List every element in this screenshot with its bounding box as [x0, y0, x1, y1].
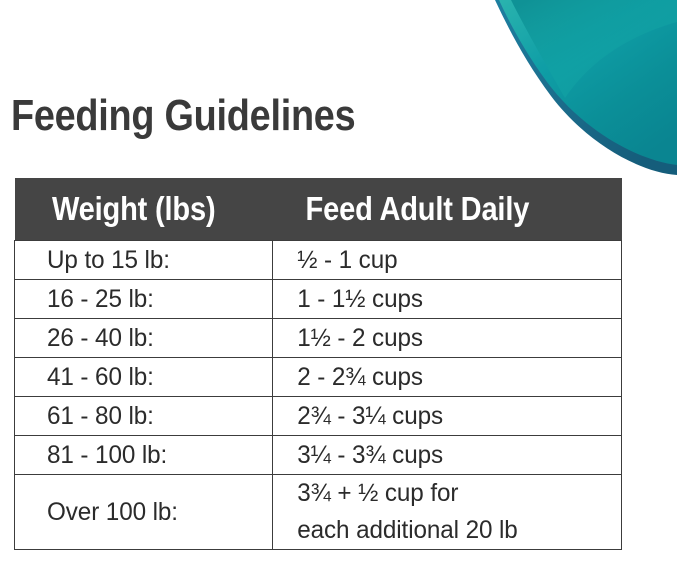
cell-feed: 1 - 1½ cups	[273, 280, 622, 319]
cell-weight: 26 - 40 lb:	[15, 319, 273, 358]
cell-feed: 1½ - 2 cups	[273, 319, 622, 358]
cell-weight-text: 81 - 100 lb:	[15, 440, 264, 470]
cell-feed-text: 2 - 2¾ cups	[273, 362, 611, 392]
cell-feed: ½ - 1 cup	[273, 241, 622, 280]
teal-swoosh-body	[499, 0, 677, 165]
cell-weight-text: Over 100 lb:	[15, 497, 264, 527]
teal-swoosh-overlay	[511, 0, 677, 98]
cell-weight: 16 - 25 lb:	[15, 280, 273, 319]
column-header-weight-label: Weight (lbs)	[15, 192, 242, 226]
feeding-guidelines-table: Weight (lbs) Feed Adult Daily Up to 15 l…	[14, 178, 622, 550]
teal-swoosh-decoration	[477, 0, 677, 175]
table-row: 26 - 40 lb: 1½ - 2 cups	[15, 319, 622, 358]
cell-feed: 3¼ - 3¾ cups	[273, 436, 622, 475]
page-title: Feeding Guidelines	[11, 90, 355, 142]
teal-swoosh-edge	[495, 0, 677, 175]
table-row: 81 - 100 lb: 3¼ - 3¾ cups	[15, 436, 622, 475]
cell-weight: Over 100 lb:	[15, 475, 273, 550]
column-header-feed-label: Feed Adult Daily	[273, 192, 580, 226]
column-header-weight: Weight (lbs)	[15, 178, 273, 241]
table-row: 41 - 60 lb: 2 - 2¾ cups	[15, 358, 622, 397]
cell-feed-text: 1 - 1½ cups	[273, 284, 611, 314]
cell-weight: 61 - 80 lb:	[15, 397, 273, 436]
table-row: Up to 15 lb: ½ - 1 cup	[15, 241, 622, 280]
cell-weight-text: 41 - 60 lb:	[15, 362, 264, 392]
cell-weight: 41 - 60 lb:	[15, 358, 273, 397]
cell-feed: 2¾ - 3¼ cups	[273, 397, 622, 436]
cell-feed-text: ½ - 1 cup	[273, 245, 611, 275]
table-body: Up to 15 lb: ½ - 1 cup 16 - 25 lb: 1 - 1…	[15, 241, 622, 550]
cell-weight: Up to 15 lb:	[15, 241, 273, 280]
cell-feed-text: 2¾ - 3¼ cups	[273, 401, 611, 431]
cell-weight-text: 61 - 80 lb:	[15, 401, 264, 431]
cell-feed-text: 1½ - 2 cups	[273, 323, 611, 353]
column-header-feed: Feed Adult Daily	[273, 178, 622, 241]
cell-weight: 81 - 100 lb:	[15, 436, 273, 475]
table-row: 61 - 80 lb: 2¾ - 3¼ cups	[15, 397, 622, 436]
cell-weight-text: 16 - 25 lb:	[15, 284, 264, 314]
cell-feed-text: 3¾ + ½ cup for each additional 20 lb	[273, 475, 611, 549]
table-row: Over 100 lb: 3¾ + ½ cup for each additio…	[15, 475, 622, 550]
cell-weight-text: Up to 15 lb:	[15, 245, 264, 275]
cell-weight-text: 26 - 40 lb:	[15, 323, 264, 353]
table-row: 16 - 25 lb: 1 - 1½ cups	[15, 280, 622, 319]
cell-feed: 2 - 2¾ cups	[273, 358, 622, 397]
table-header: Weight (lbs) Feed Adult Daily	[15, 178, 622, 241]
cell-feed: 3¾ + ½ cup for each additional 20 lb	[273, 475, 622, 550]
cell-feed-text: 3¼ - 3¾ cups	[273, 440, 611, 470]
table-header-row: Weight (lbs) Feed Adult Daily	[15, 178, 622, 241]
